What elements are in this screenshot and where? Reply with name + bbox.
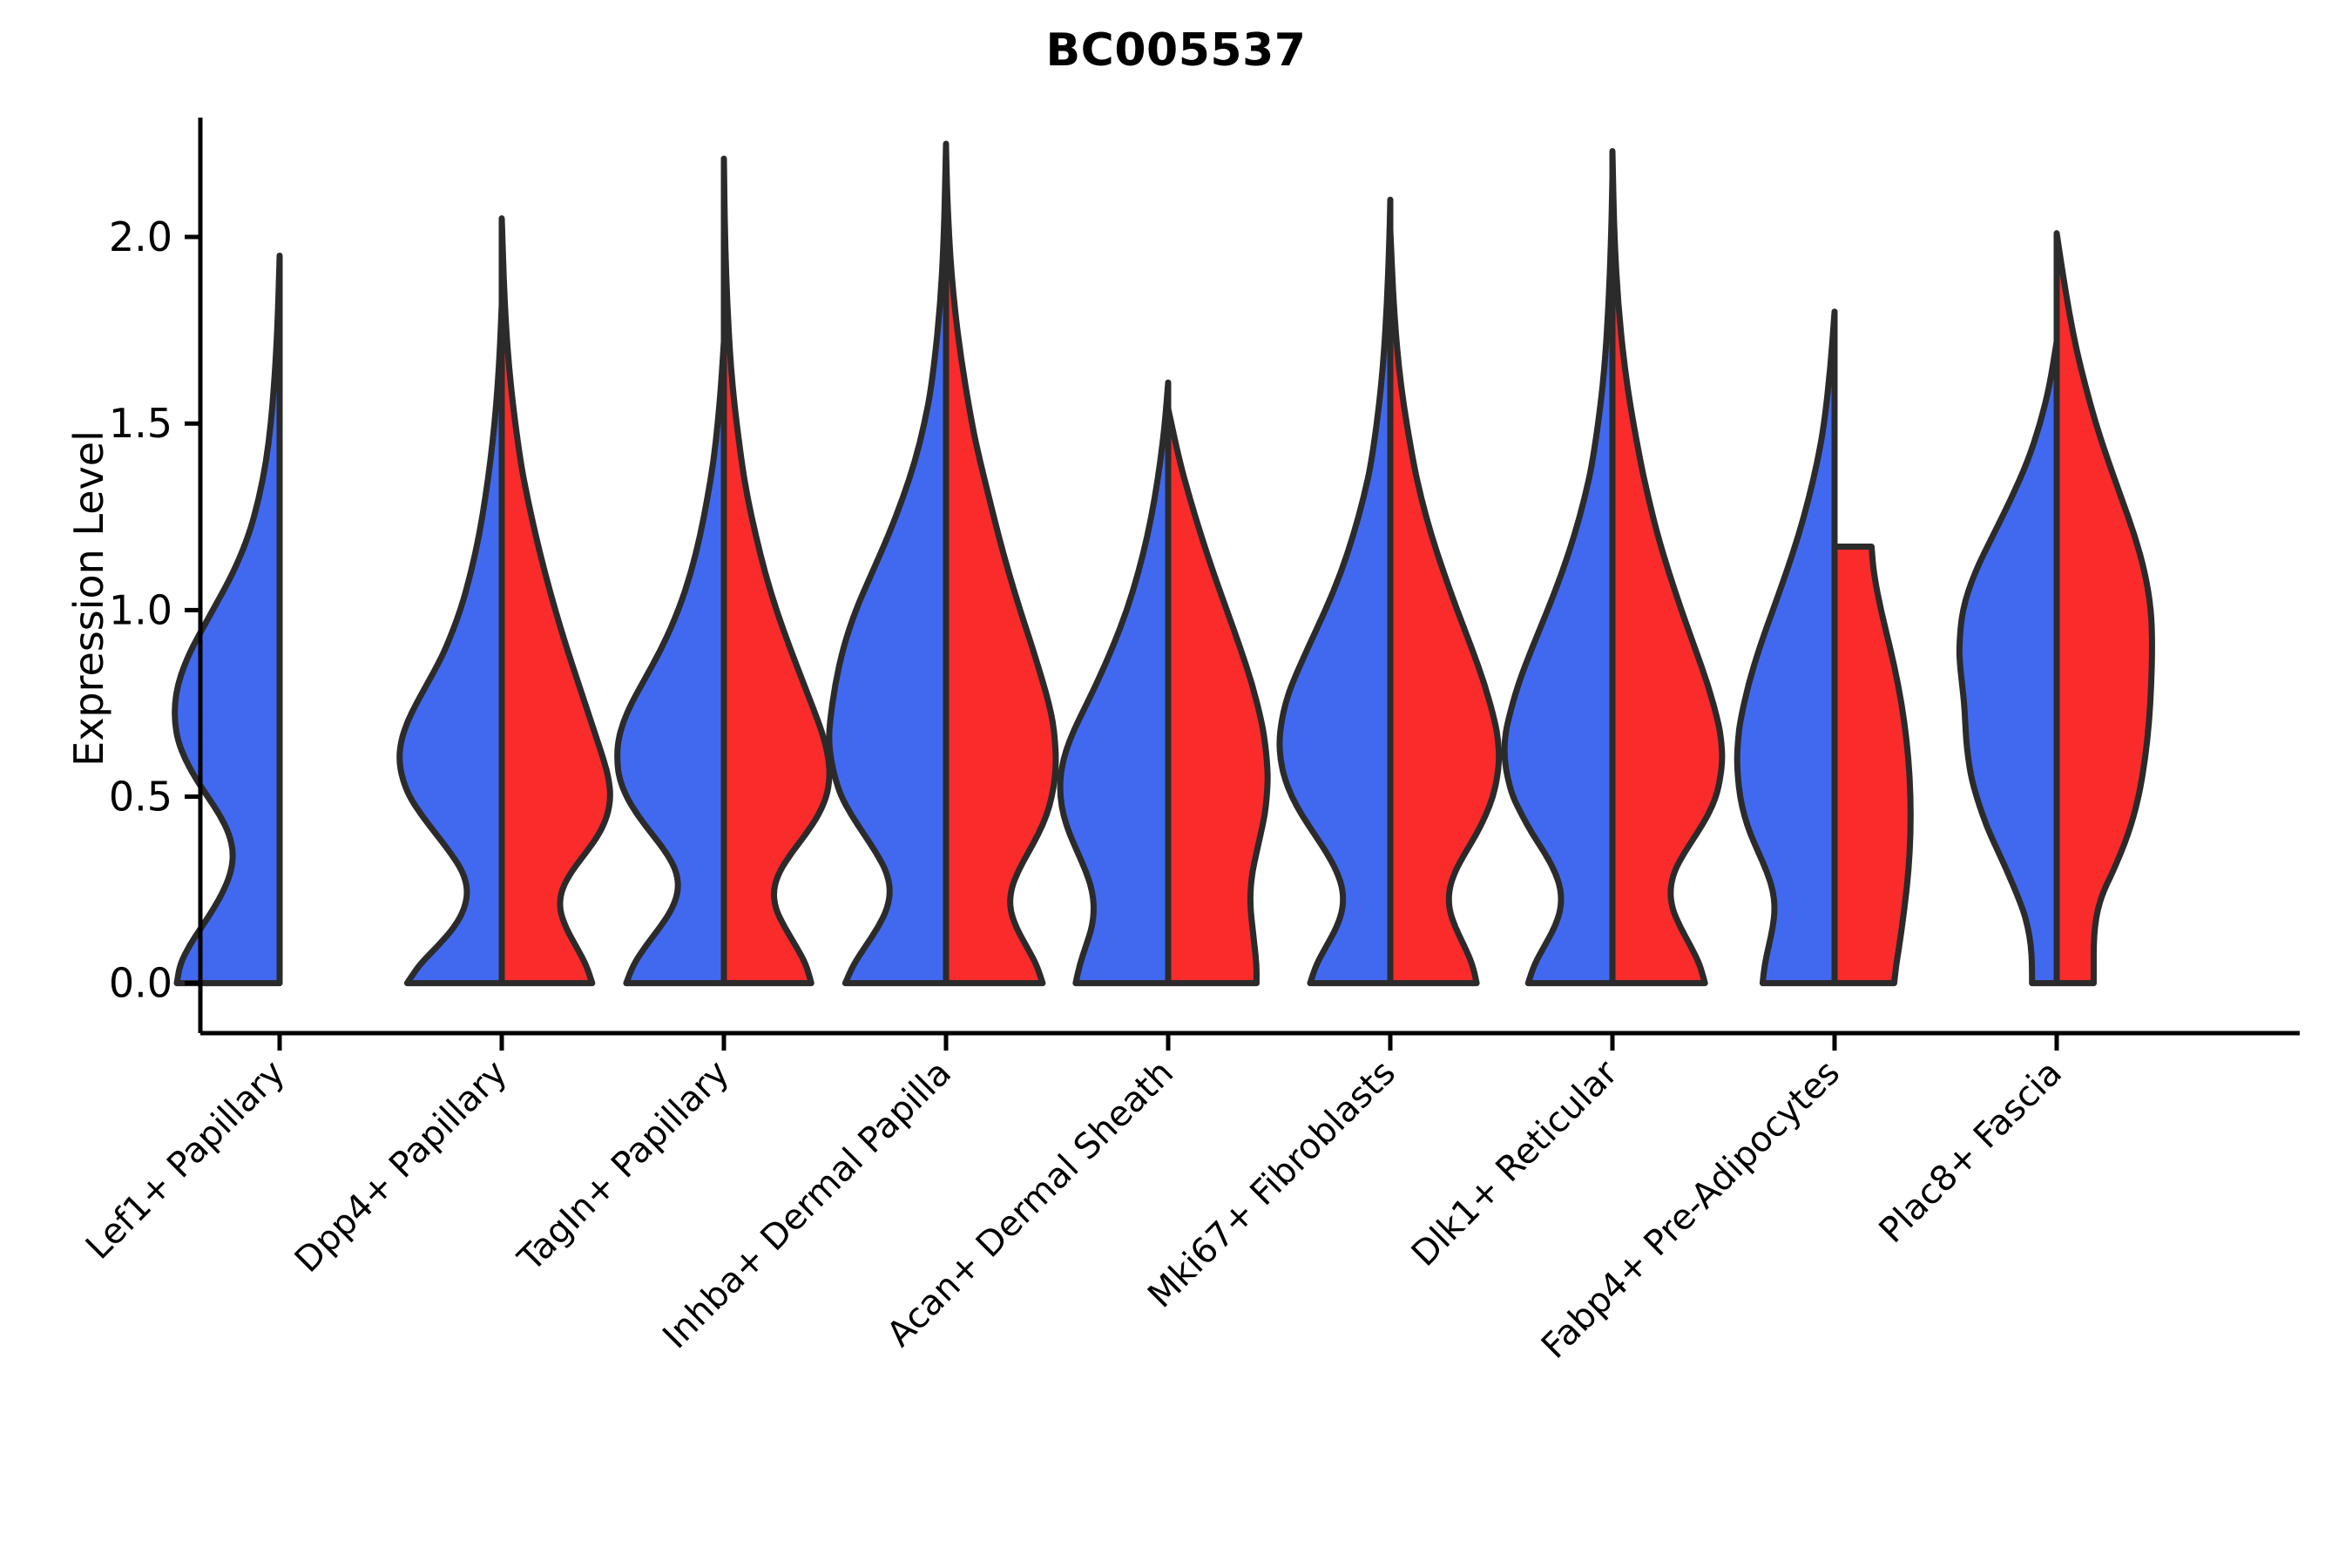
violin-group-red-1 <box>502 219 610 983</box>
violin-group-blue-6 <box>1504 178 1612 983</box>
violin-group-red-2 <box>724 159 829 983</box>
plot-canvas: Lef1+ PapillaryDpp4+ PapillaryTagIn+ Pap… <box>0 0 2352 1568</box>
violin-group-red-4 <box>1168 409 1267 983</box>
violin-group-blue-8 <box>1959 341 2057 983</box>
y-tick-label-2: 1.0 <box>109 586 172 633</box>
violin-group-red-8 <box>2057 233 2152 983</box>
x-tick-label-0: Lef1+ Papillary <box>78 1053 293 1267</box>
x-tick-label-1: Dpp4+ Papillary <box>287 1053 515 1281</box>
violin-group-red-6 <box>1612 152 1722 983</box>
violin-group-blue-1 <box>400 304 502 983</box>
violin-group-blue-2 <box>618 341 724 983</box>
violin-group-red-3 <box>946 147 1056 983</box>
x-tick-label-5: Mki67+ Fibroblasts <box>1140 1053 1403 1316</box>
violin-group-blue-0 <box>175 255 280 983</box>
x-tick-label-8: Plac8+ Fascia <box>1872 1053 2071 1252</box>
y-tick-label-1: 0.5 <box>109 773 172 820</box>
violin-group-red-5 <box>1390 229 1499 983</box>
violin-group-red-7 <box>1835 547 1910 983</box>
violin-group-blue-4 <box>1060 382 1168 983</box>
x-tick-label-2: TagIn+ Papillary <box>510 1053 737 1280</box>
violin-group-blue-3 <box>829 144 946 983</box>
x-tick-label-6: Dlk1+ Reticular <box>1404 1052 1626 1274</box>
violin-group-blue-7 <box>1737 312 1835 983</box>
violin-plot-figure: BC005537 Expression Level Lef1+ Papillar… <box>0 0 2352 1568</box>
violins-layer <box>175 144 2153 983</box>
y-tick-label-4: 2.0 <box>109 213 172 260</box>
x-tick-labels-layer: Lef1+ PapillaryDpp4+ PapillaryTagIn+ Pap… <box>78 1052 2070 1367</box>
y-tick-label-0: 0.0 <box>109 960 172 1007</box>
violin-group-blue-5 <box>1280 199 1390 983</box>
y-tick-label-3: 1.5 <box>109 400 172 447</box>
y-tick-labels-layer: 0.00.51.01.52.0 <box>109 213 172 1007</box>
